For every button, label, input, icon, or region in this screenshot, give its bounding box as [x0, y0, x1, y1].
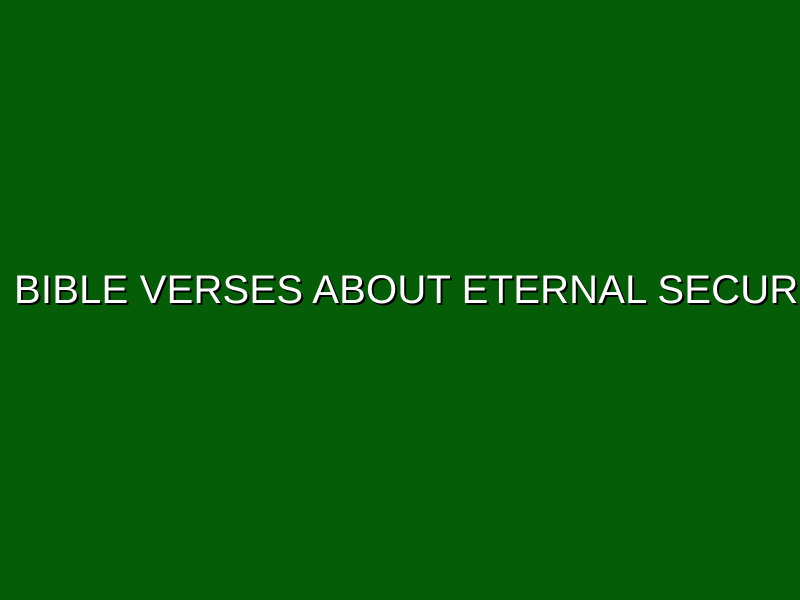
title-block: BIBLE VERSES ABOUT ETERNAL SECURITY [0, 266, 800, 314]
page-title: BIBLE VERSES ABOUT ETERNAL SECURITY [14, 266, 800, 314]
title-card: BIBLE VERSES ABOUT ETERNAL SECURITY [0, 0, 800, 600]
